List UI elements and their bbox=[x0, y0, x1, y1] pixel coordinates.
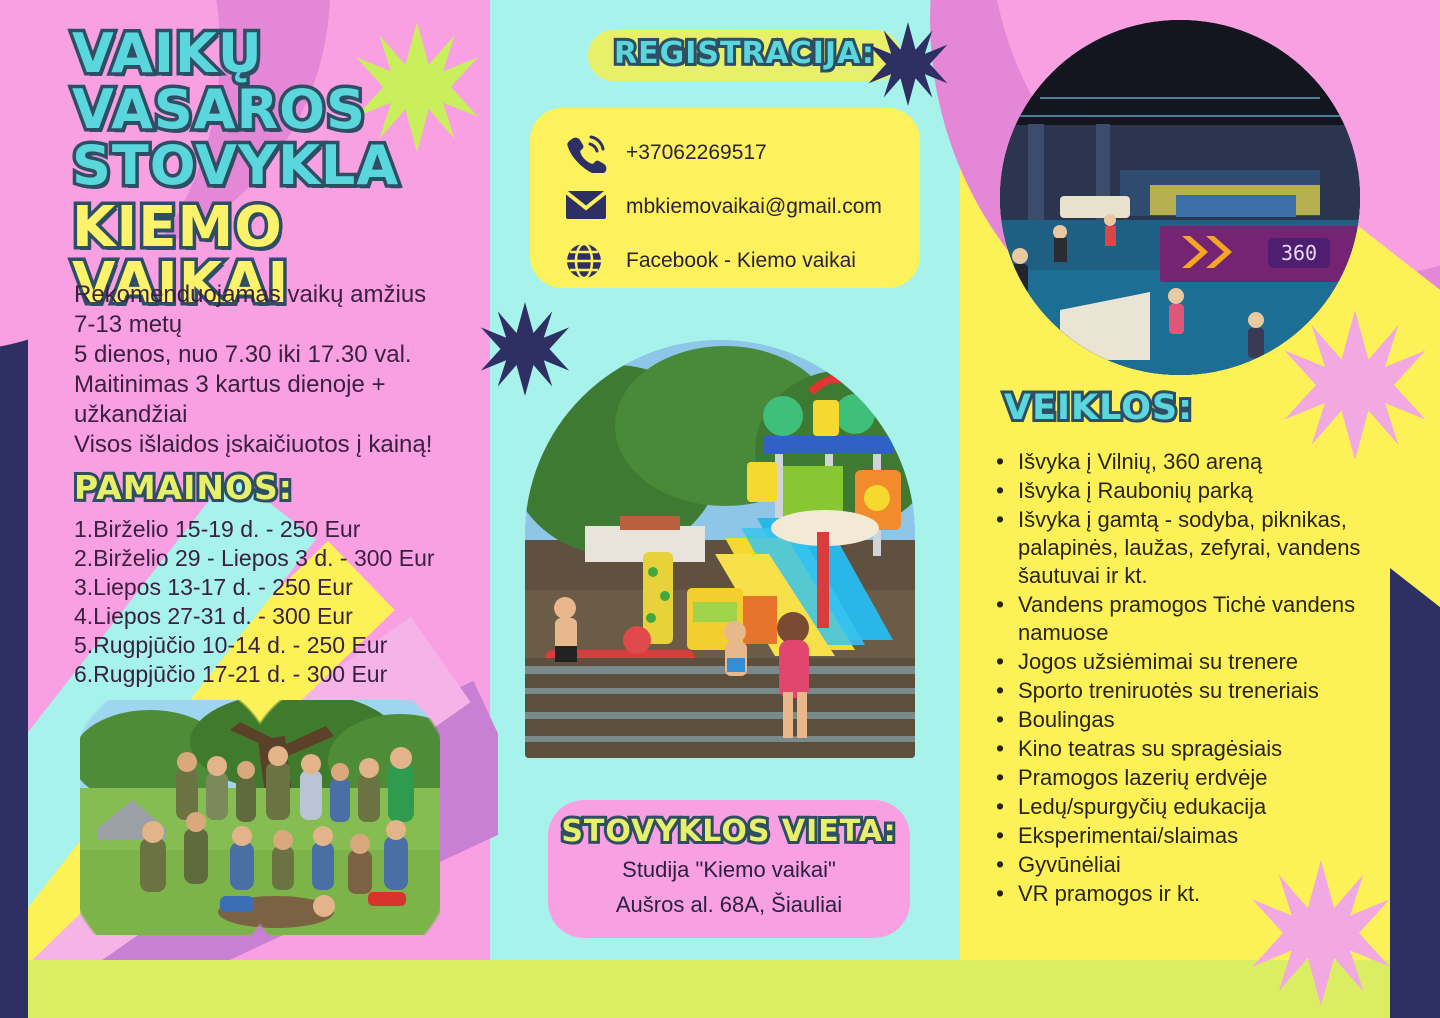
location-address: Aušros al. 68A, Šiauliai bbox=[548, 890, 910, 919]
phone-icon bbox=[564, 133, 612, 173]
info-line: Maitinimas 3 kartus dienoje + bbox=[74, 370, 504, 400]
camp-location-card: STOVYKLOS VIETA: Studija "Kiemo vaikai" … bbox=[548, 800, 910, 938]
shift-item: 6.Rugpjūčio 17-21 d. - 300 Eur bbox=[74, 660, 494, 689]
registration-card: +37062269517 mbkiemovaikai@gmail.com bbox=[530, 108, 920, 288]
activity-item: Gyvūnėliai bbox=[990, 851, 1390, 879]
email-address: mbkiemovaikai@gmail.com bbox=[626, 195, 882, 219]
shift-item: 1.Birželio 15-19 d. - 250 Eur bbox=[74, 515, 494, 544]
info-line: užkandžiai bbox=[74, 400, 504, 430]
activity-item: Ledų/spurgyčių edukacija bbox=[990, 793, 1390, 821]
registration-heading: REGISTRACIJA: bbox=[614, 36, 875, 71]
activity-item: Pramogos lazerių erdvėje bbox=[990, 764, 1390, 792]
info-line: Visos išlaidos įskaičiuotos į kainą! bbox=[74, 430, 504, 460]
shifts-heading: PAMAINOS: bbox=[74, 468, 293, 507]
location-studio-name: Studija "Kiemo vaikai" bbox=[548, 855, 910, 884]
activity-item: Išvyka į gamtą - sodyba, piknikas, palap… bbox=[990, 506, 1390, 590]
shifts-list: 1.Birželio 15-19 d. - 250 Eur 2.Birželio… bbox=[74, 515, 494, 689]
activity-item: Sporto treniruotės su treneriais bbox=[990, 677, 1390, 705]
svg-text:360: 360 bbox=[1281, 241, 1317, 265]
activity-item: Vandens pramogos Tichė vandens namuose bbox=[990, 591, 1390, 647]
registration-heading-pill: REGISTRACIJA: bbox=[588, 30, 901, 81]
activity-item: Jogos užsiėmimai su trenere bbox=[990, 648, 1390, 676]
registration-email-row[interactable]: mbkiemovaikai@gmail.com bbox=[564, 180, 920, 234]
trampoline-arena-photo: 360 bbox=[1000, 20, 1360, 375]
camp-info-paragraph: Rekomenduojamas vaikų amžius 7-13 metų 5… bbox=[74, 280, 504, 460]
info-line: Rekomenduojamas vaikų amžius bbox=[74, 280, 504, 310]
activity-item: Išvyka į Vilnių, 360 areną bbox=[990, 448, 1390, 476]
shift-item: 2.Birželio 29 - Liepos 3 d. - 300 Eur bbox=[74, 544, 494, 573]
envelope-icon bbox=[564, 187, 612, 227]
facebook-handle: Facebook - Kiemo vaikai bbox=[626, 249, 856, 273]
activities-heading: VEIKLOS: bbox=[1004, 388, 1193, 428]
activity-item: Boulingas bbox=[990, 706, 1390, 734]
shift-item: 3.Liepos 13-17 d. - 250 Eur bbox=[74, 573, 494, 602]
location-heading: STOVYKLOS VIETA: bbox=[548, 814, 910, 849]
activities-list: Išvyka į Vilnių, 360 areną Išvyka į Raub… bbox=[990, 448, 1390, 909]
title-line-1: VAIKŲ bbox=[72, 26, 492, 82]
globe-icon bbox=[564, 241, 612, 281]
activity-item: Eksperimentai/slaimas bbox=[990, 822, 1390, 850]
registration-phone-row[interactable]: +37062269517 bbox=[564, 126, 920, 180]
waterpark-playground-photo bbox=[525, 340, 915, 758]
camouflage-kids-group-photo bbox=[80, 700, 440, 935]
page-title: VAIKŲ VASAROS STOVYKLA KIEMO VAIKAI bbox=[72, 26, 492, 312]
bottom-lime-band bbox=[28, 960, 1390, 1018]
activity-item: Išvyka į Raubonių parką bbox=[990, 477, 1390, 505]
activity-item: Kino teatras su spragėsiais bbox=[990, 735, 1390, 763]
activity-item: VR pramogos ir kt. bbox=[990, 880, 1390, 908]
title-line-3: STOVYKLA bbox=[72, 138, 492, 194]
info-line: 7-13 metų bbox=[74, 310, 504, 340]
registration-facebook-row[interactable]: Facebook - Kiemo vaikai bbox=[564, 234, 920, 288]
shift-item: 5.Rugpjūčio 10-14 d. - 250 Eur bbox=[74, 631, 494, 660]
phone-number: +37062269517 bbox=[626, 141, 767, 165]
shift-item: 4.Liepos 27-31 d. - 300 Eur bbox=[74, 602, 494, 631]
poster-root: VAIKŲ VASAROS STOVYKLA KIEMO VAIKAI Reko… bbox=[0, 0, 1440, 1018]
info-line: 5 dienos, nuo 7.30 iki 17.30 val. bbox=[74, 340, 504, 370]
title-line-2: VASAROS bbox=[72, 82, 492, 138]
